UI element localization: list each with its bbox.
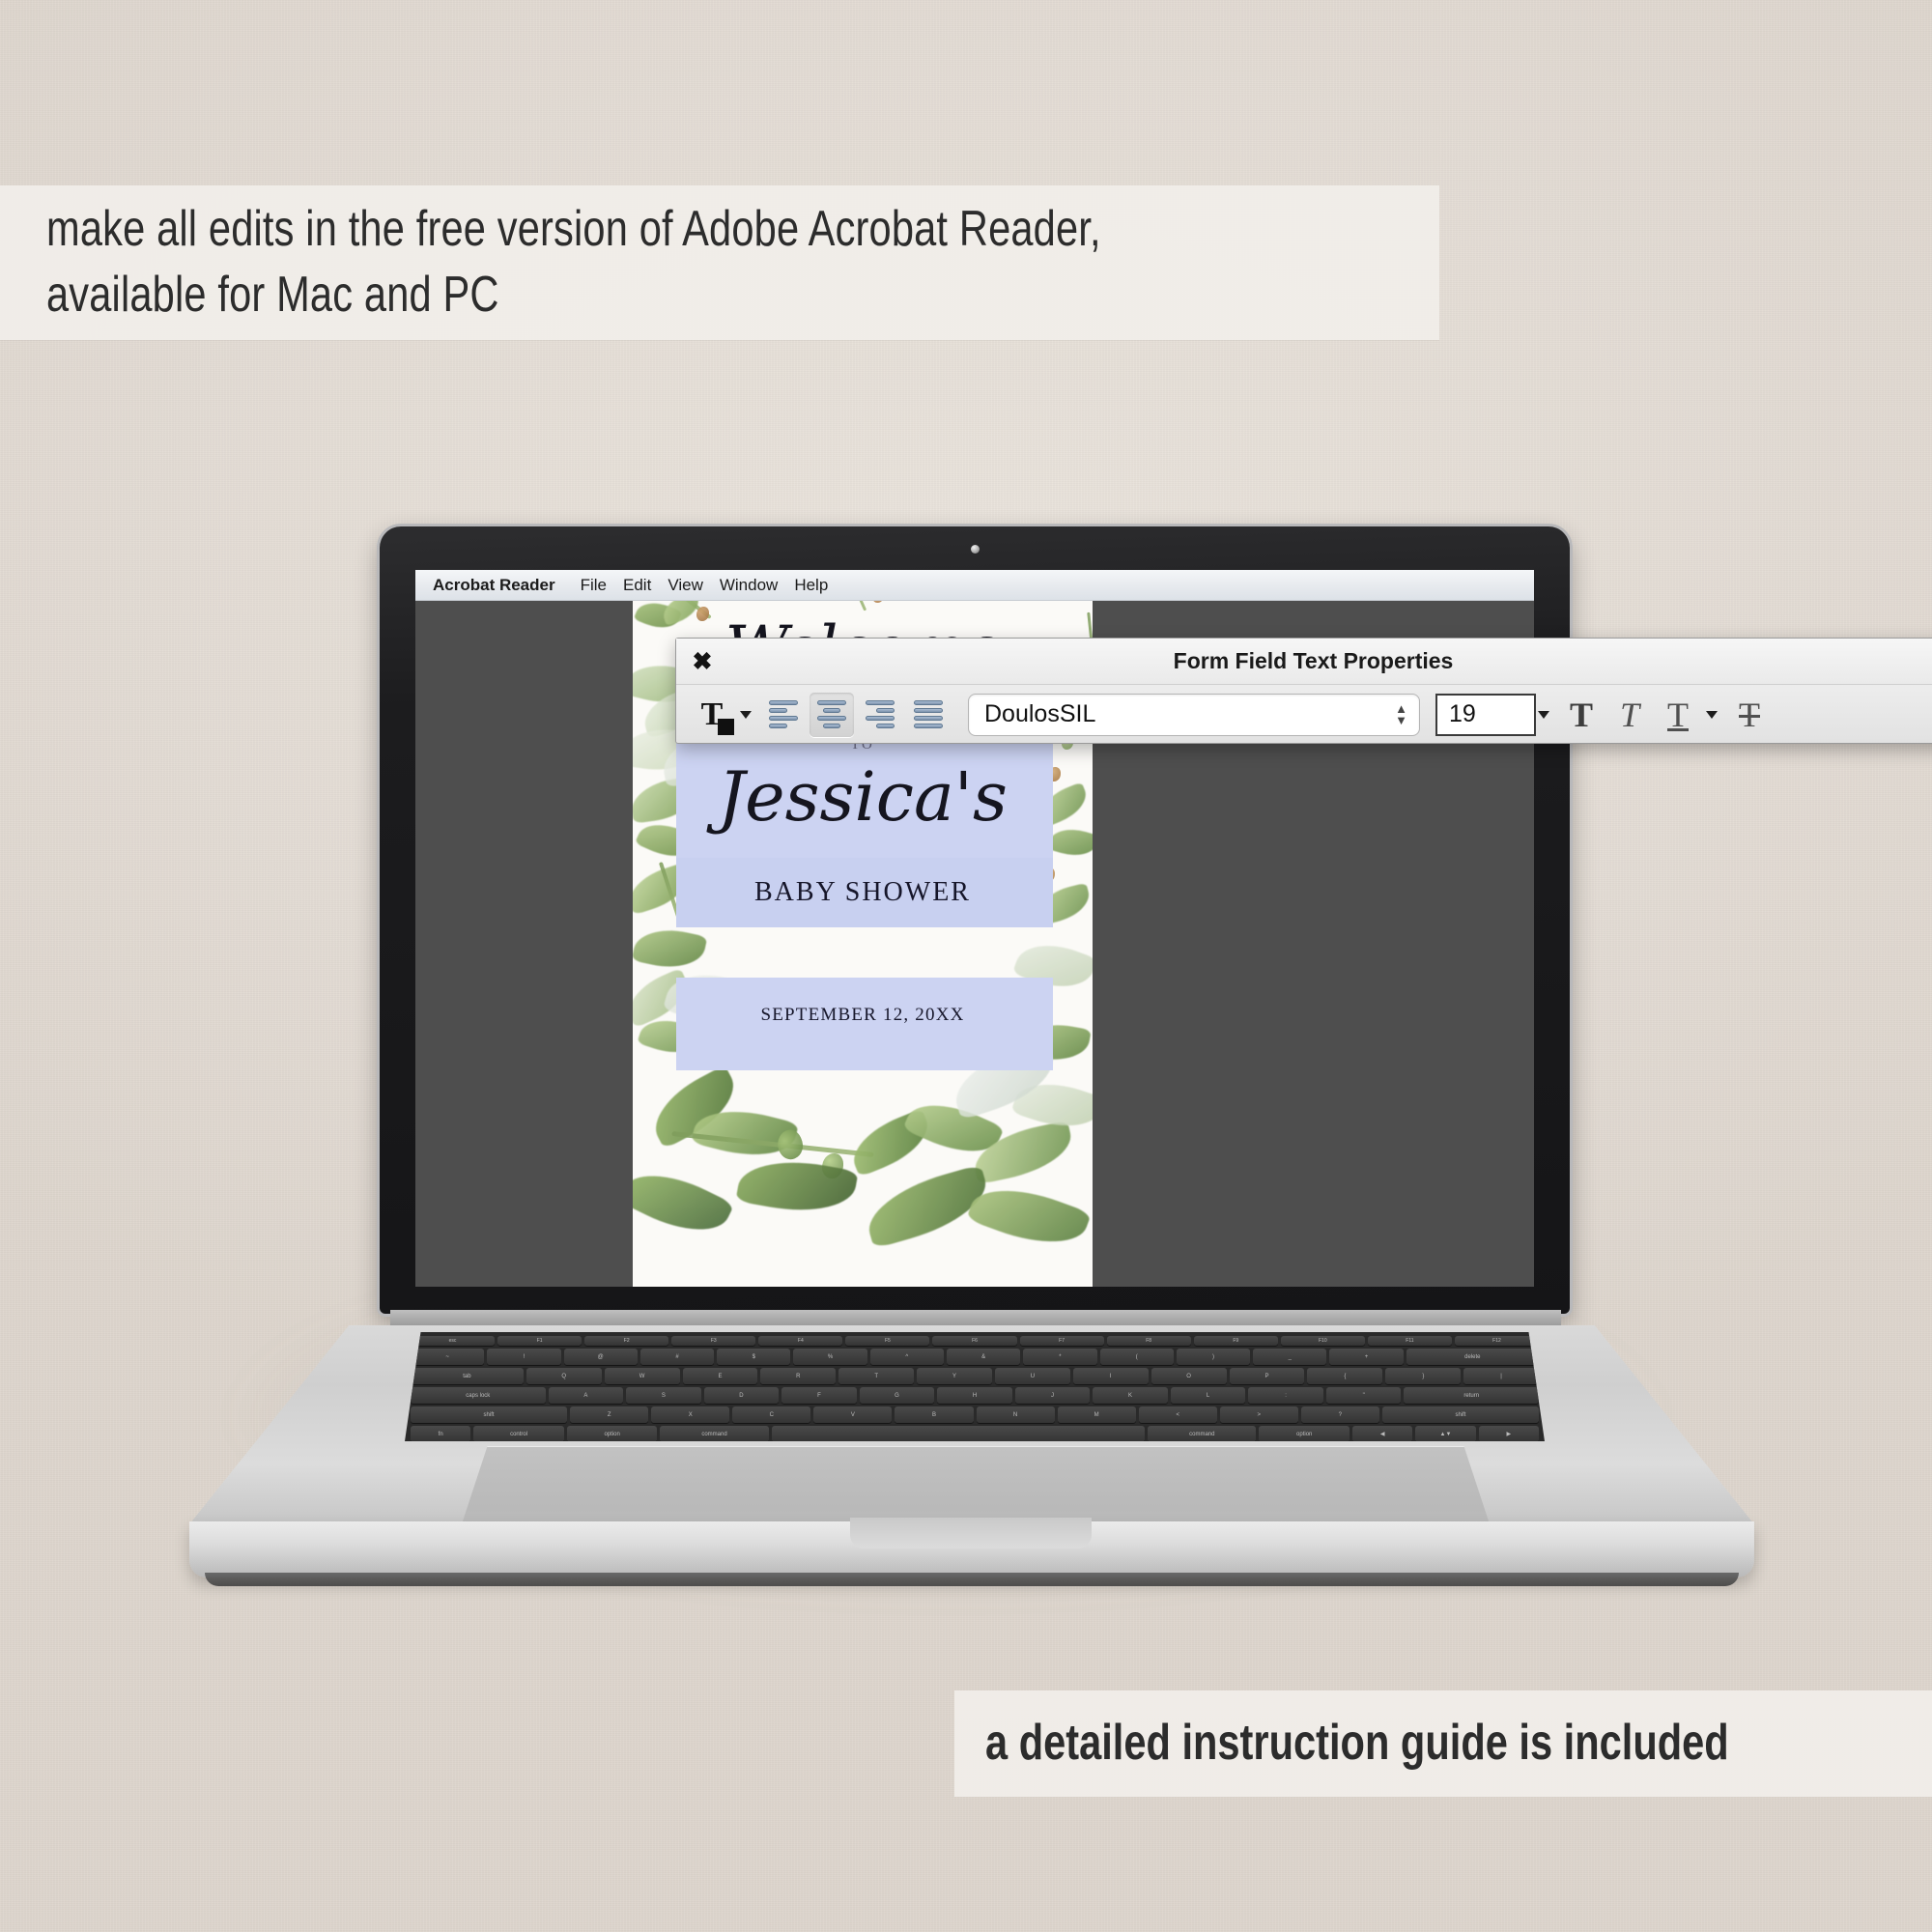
italic-button[interactable]: T — [1607, 693, 1652, 737]
menu-item-window[interactable]: Window — [720, 576, 794, 595]
key[interactable]: F — [781, 1387, 857, 1404]
key[interactable]: : — [1248, 1387, 1323, 1404]
bold-icon: T — [1570, 697, 1593, 732]
camera-dot-icon — [971, 545, 980, 554]
key[interactable]: N — [977, 1406, 1055, 1423]
invite-date-text[interactable]: SEPTEMBER 12, 20XX — [633, 1005, 1093, 1026]
menu-bar[interactable]: Acrobat Reader File Edit View Window Hel… — [415, 570, 1534, 601]
underline-icon: T — [1667, 697, 1689, 732]
font-size-value: 19 — [1449, 700, 1476, 728]
align-right-glyph — [866, 700, 895, 729]
chevron-down-icon[interactable] — [740, 711, 752, 719]
keyboard-row-function[interactable]: esc F1 F2 F3 F4 F5 F6 F7 F8 F9 F10 F11 F… — [411, 1336, 1539, 1346]
key[interactable]: Z — [570, 1406, 648, 1423]
key[interactable]: A — [549, 1387, 624, 1404]
key[interactable]: F2 — [584, 1336, 668, 1346]
key[interactable]: F10 — [1281, 1336, 1365, 1346]
key-shift-right[interactable]: shift — [1382, 1406, 1539, 1423]
close-icon[interactable]: ✖ — [690, 649, 715, 674]
key[interactable]: { — [1307, 1368, 1382, 1384]
align-center-icon[interactable] — [810, 693, 854, 737]
menu-item-view[interactable]: View — [668, 576, 720, 595]
dialog-title-bar: Form Field Text Properties — [676, 639, 1932, 685]
font-size-chevron-down-icon[interactable] — [1538, 711, 1549, 719]
key[interactable]: ( — [1100, 1349, 1174, 1365]
keyboard-row-bottom[interactable]: shift Z X C V B N M < > ? shift — [411, 1406, 1539, 1423]
key[interactable]: * — [1023, 1349, 1096, 1365]
instruction-banner-top: make all edits in the free version of Ad… — [0, 185, 1439, 340]
key[interactable]: F3 — [671, 1336, 755, 1346]
key[interactable]: M — [1058, 1406, 1136, 1423]
key[interactable]: P — [1230, 1368, 1305, 1384]
invite-event-text[interactable]: BABY SHOWER — [633, 877, 1093, 908]
key[interactable]: ? — [1301, 1406, 1379, 1423]
key[interactable]: R — [760, 1368, 836, 1384]
strikethrough-button[interactable]: T — [1727, 693, 1772, 737]
font-family-value: DoulosSIL — [984, 700, 1395, 728]
key[interactable]: X — [651, 1406, 729, 1423]
key[interactable]: U — [995, 1368, 1070, 1384]
instruction-banner-top-text: make all edits in the free version of Ad… — [46, 197, 1101, 327]
key[interactable]: G — [860, 1387, 935, 1404]
key-tab[interactable]: tab — [411, 1368, 524, 1384]
key-option-left[interactable]: option — [567, 1426, 658, 1442]
align-right-icon[interactable] — [858, 693, 902, 737]
keyboard-row-qwerty[interactable]: tab Q W E R T Y U I O P { } | — [411, 1368, 1539, 1384]
keyboard-row-modifiers[interactable]: fn control option command command option… — [411, 1426, 1539, 1442]
key[interactable]: < — [1139, 1406, 1217, 1423]
key[interactable]: F5 — [845, 1336, 929, 1346]
key[interactable]: F12 — [1455, 1336, 1539, 1346]
key-fn[interactable]: fn — [411, 1426, 470, 1442]
text-properties-icon[interactable]: T — [690, 693, 734, 737]
key[interactable]: ! — [487, 1349, 560, 1365]
key-delete[interactable]: delete — [1406, 1349, 1539, 1365]
key[interactable]: Y — [917, 1368, 992, 1384]
key[interactable]: F8 — [1107, 1336, 1191, 1346]
align-justify-icon[interactable] — [906, 693, 951, 737]
key[interactable]: + — [1329, 1349, 1403, 1365]
key[interactable]: F4 — [758, 1336, 842, 1346]
key[interactable]: $ — [717, 1349, 790, 1365]
greenery-leaf — [633, 1157, 734, 1247]
font-size-input[interactable]: 19 — [1435, 694, 1536, 736]
underline-options-chevron-down-icon[interactable] — [1706, 711, 1718, 719]
key[interactable]: _ — [1253, 1349, 1326, 1365]
instruction-banner-bottom: a detailed instruction guide is included — [954, 1690, 1932, 1797]
menu-item-file[interactable]: File — [581, 576, 623, 595]
key-return[interactable]: return — [1404, 1387, 1539, 1404]
key-option-right[interactable]: option — [1259, 1426, 1350, 1442]
key[interactable]: C — [732, 1406, 810, 1423]
key-arrow-updown[interactable]: ▲▼ — [1415, 1426, 1475, 1442]
key[interactable]: K — [1093, 1387, 1168, 1404]
key-caps-lock[interactable]: caps lock — [411, 1387, 546, 1404]
key[interactable]: S — [626, 1387, 701, 1404]
strikethrough-icon: T — [1739, 697, 1760, 732]
key-command-right[interactable]: command — [1148, 1426, 1256, 1442]
key-arrow-right[interactable]: ▶ — [1479, 1426, 1539, 1442]
keyboard-row-number[interactable]: ~ ! @ # $ % ^ & * ( ) _ + delete — [411, 1349, 1539, 1365]
key[interactable]: I — [1073, 1368, 1149, 1384]
key-space[interactable] — [772, 1426, 1146, 1442]
keyboard[interactable]: esc F1 F2 F3 F4 F5 F6 F7 F8 F9 F10 F11 F… — [405, 1332, 1545, 1441]
align-center-glyph — [817, 700, 846, 729]
key[interactable]: " — [1326, 1387, 1402, 1404]
key[interactable]: L — [1171, 1387, 1246, 1404]
key[interactable]: esc — [411, 1336, 495, 1346]
key[interactable]: Q — [526, 1368, 602, 1384]
align-left-glyph — [769, 700, 798, 729]
instruction-banner-bottom-text: a detailed instruction guide is included — [985, 1716, 1729, 1771]
key[interactable]: F11 — [1368, 1336, 1452, 1346]
key[interactable]: ) — [1177, 1349, 1250, 1365]
key[interactable]: E — [683, 1368, 758, 1384]
key[interactable]: T — [838, 1368, 914, 1384]
key-command-left[interactable]: command — [660, 1426, 768, 1442]
key[interactable]: % — [793, 1349, 867, 1365]
key[interactable]: V — [813, 1406, 892, 1423]
keyboard-row-home[interactable]: caps lock A S D F G H J K L : " return — [411, 1387, 1539, 1404]
key[interactable]: & — [947, 1349, 1020, 1365]
greenery-leaf — [814, 601, 846, 606]
key[interactable]: @ — [564, 1349, 638, 1365]
laptop-front-notch — [850, 1518, 1092, 1548]
menu-item-help[interactable]: Help — [794, 576, 844, 595]
key[interactable]: B — [895, 1406, 973, 1423]
form-field-text-properties-dialog[interactable]: Form Field Text Properties ✖ T — [675, 638, 1932, 744]
key[interactable]: > — [1220, 1406, 1298, 1423]
key[interactable]: | — [1463, 1368, 1539, 1384]
key[interactable]: W — [605, 1368, 680, 1384]
key-shift-left[interactable]: shift — [411, 1406, 567, 1423]
align-left-icon[interactable] — [761, 693, 806, 737]
greenery-bud — [872, 601, 884, 603]
key[interactable]: D — [704, 1387, 780, 1404]
menu-item-acrobat-reader[interactable]: Acrobat Reader — [433, 576, 581, 595]
key[interactable]: J — [1015, 1387, 1091, 1404]
key[interactable]: O — [1151, 1368, 1227, 1384]
key-arrow-left[interactable]: ◀ — [1352, 1426, 1412, 1442]
menu-item-edit[interactable]: Edit — [623, 576, 668, 595]
key[interactable]: H — [937, 1387, 1012, 1404]
invite-name-text[interactable]: Jessica's — [633, 763, 1093, 831]
key[interactable]: } — [1385, 1368, 1461, 1384]
key[interactable]: ^ — [870, 1349, 944, 1365]
underline-button[interactable]: T — [1656, 693, 1700, 737]
bold-button[interactable]: T — [1559, 693, 1604, 737]
updown-stepper-icon[interactable]: ▲▼ — [1395, 704, 1407, 725]
dialog-toolbar-row[interactable]: T — [676, 685, 1932, 744]
key[interactable]: # — [640, 1349, 714, 1365]
laptop-base-shadow — [205, 1573, 1739, 1586]
key[interactable]: F9 — [1194, 1336, 1278, 1346]
greenery-stem — [841, 601, 867, 611]
dialog-title: Form Field Text Properties — [1174, 648, 1454, 674]
key[interactable]: F1 — [497, 1336, 582, 1346]
greenery-leaf — [633, 923, 707, 975]
key[interactable]: ~ — [411, 1349, 484, 1365]
key[interactable]: F7 — [1020, 1336, 1104, 1346]
font-family-select[interactable]: DoulosSIL ▲▼ — [968, 694, 1420, 736]
align-justify-glyph — [914, 700, 943, 729]
text-tool-glyph: T — [701, 696, 724, 733]
italic-icon: T — [1620, 697, 1639, 732]
page-root: Acrobat Reader File Edit View Window Hel… — [0, 0, 1932, 1932]
key-control[interactable]: control — [473, 1426, 564, 1442]
key[interactable]: F6 — [932, 1336, 1016, 1346]
